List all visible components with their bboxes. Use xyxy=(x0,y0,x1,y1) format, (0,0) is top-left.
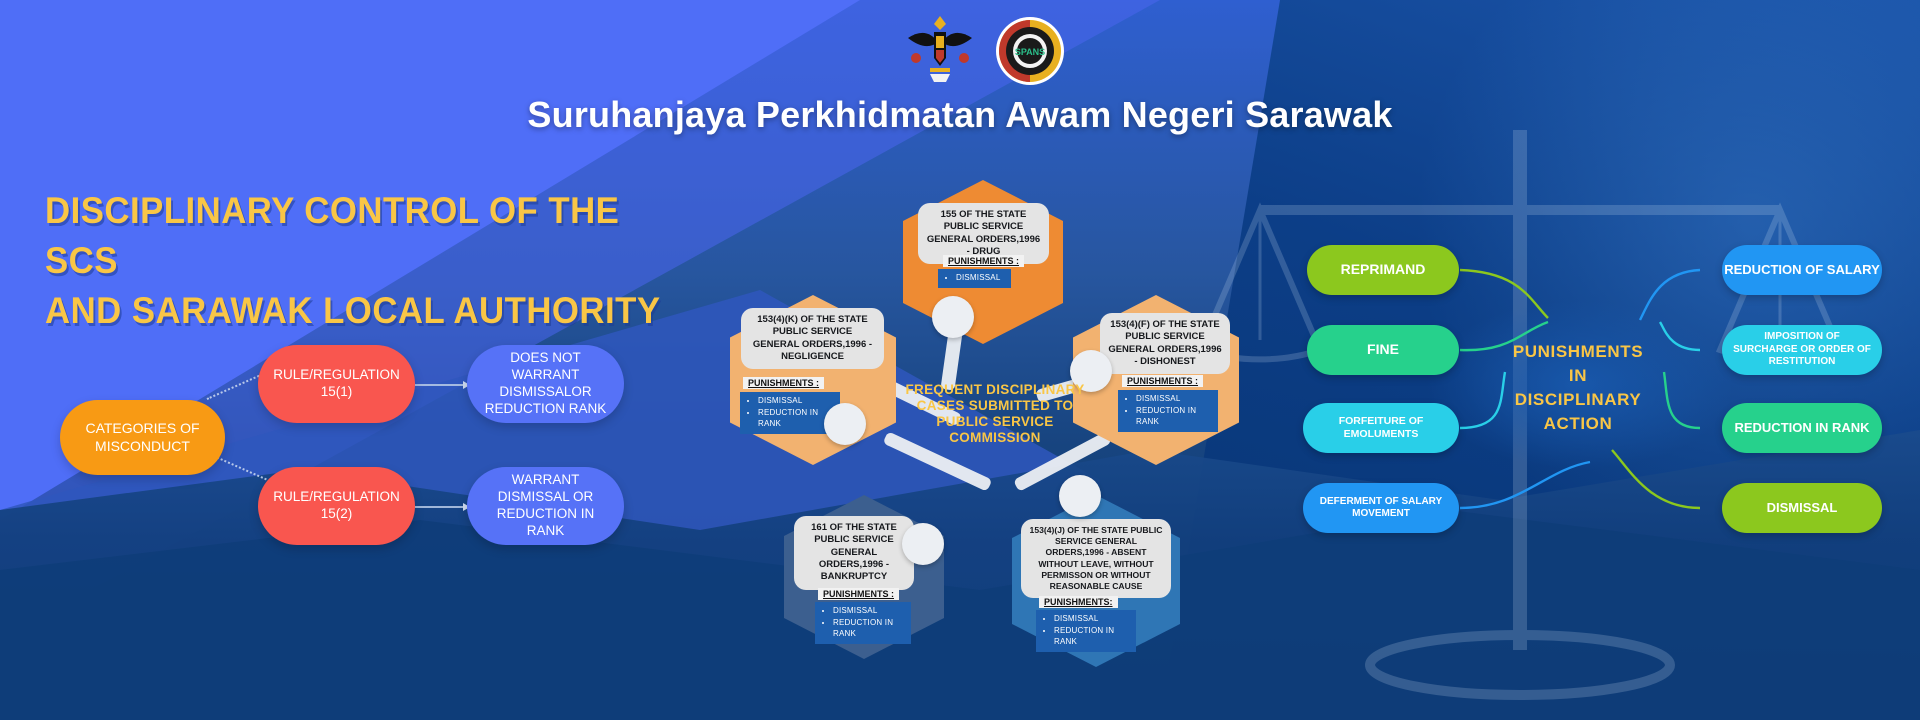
mindmap-hub-label: PUNISHMENTS IN DISCIPLINARY ACTION xyxy=(1478,340,1678,436)
chip-reduction-salary-label: REDUCTION OF SALARY xyxy=(1724,262,1880,278)
link-hub-reduction-salary xyxy=(1640,270,1700,320)
chip-reduction-in-rank[interactable]: REDUCTION IN RANK xyxy=(1722,403,1882,453)
chip-reduction-of-salary[interactable]: REDUCTION OF SALARY xyxy=(1722,245,1882,295)
chip-forfeiture-of-emoluments[interactable]: FORFEITURE OF EMOLUMENTS xyxy=(1303,403,1459,453)
chip-forfeiture-label: FORFEITURE OF EMOLUMENTS xyxy=(1311,415,1451,441)
link-hub-deferment xyxy=(1460,462,1590,508)
chip-reprimand-label: REPRIMAND xyxy=(1341,261,1426,279)
hub-line-2: IN xyxy=(1478,364,1678,388)
hub-line-1: PUNISHMENTS xyxy=(1478,340,1678,364)
infographic-canvas: SPANS Suruhanjaya Perkhidmatan Awam Nege… xyxy=(0,0,1920,720)
chip-fine[interactable]: FINE xyxy=(1307,325,1459,375)
chip-surcharge-label: IMPOSITION OF SURCHARGE OR ORDER OF REST… xyxy=(1732,331,1872,369)
chip-fine-label: FINE xyxy=(1367,341,1399,359)
chip-deferment-label: DEFERMENT OF SALARY MOVEMENT xyxy=(1311,496,1451,521)
hub-line-3: DISCIPLINARY xyxy=(1478,388,1678,412)
chip-dismissal-label: DISMISSAL xyxy=(1767,500,1838,516)
hub-line-4: ACTION xyxy=(1478,412,1678,436)
chip-deferment-of-salary-movement[interactable]: DEFERMENT OF SALARY MOVEMENT xyxy=(1303,483,1459,533)
link-hub-reprimand xyxy=(1460,270,1548,318)
chip-reduction-rank-label: REDUCTION IN RANK xyxy=(1734,420,1869,436)
chip-imposition-of-surcharge[interactable]: IMPOSITION OF SURCHARGE OR ORDER OF REST… xyxy=(1722,325,1882,375)
chip-reprimand[interactable]: REPRIMAND xyxy=(1307,245,1459,295)
chip-dismissal[interactable]: DISMISSAL xyxy=(1722,483,1882,533)
link-hub-dismissal xyxy=(1612,450,1700,508)
